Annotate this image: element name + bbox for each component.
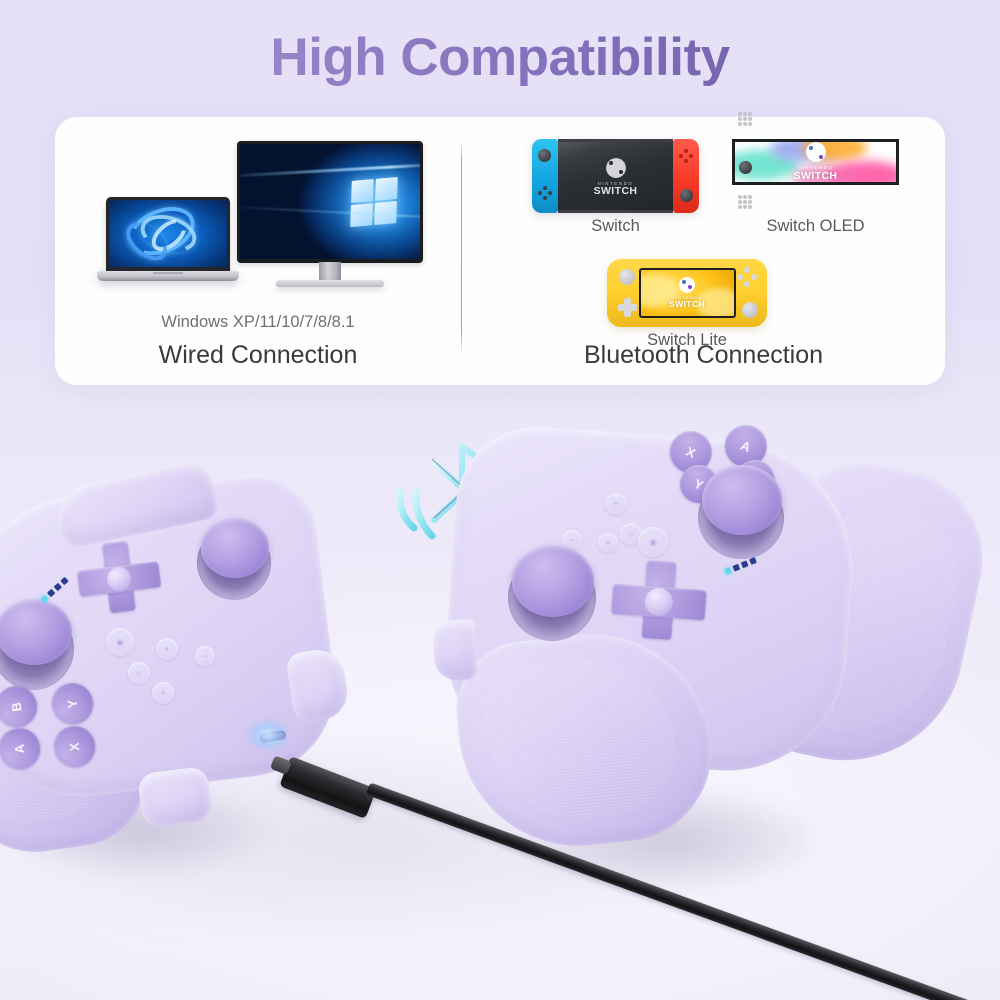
- left-controller-dpad[interactable]: [74, 537, 164, 618]
- wired-connection-heading: Wired Connection: [55, 341, 461, 370]
- lite-dpad: [618, 298, 637, 317]
- joycon-right-stick: [680, 189, 693, 202]
- right-joycon-neon-red: [673, 139, 699, 213]
- capture-button[interactable]: ◉: [638, 527, 668, 557]
- left-bumper-button[interactable]: [433, 619, 477, 680]
- switch-screen: NINTENDO SWITCH: [558, 139, 673, 213]
- left-joycon-neon-blue: [532, 139, 558, 213]
- desktop-monitor-icon: [237, 141, 423, 263]
- right-analog-stick[interactable]: [201, 518, 269, 578]
- minus-button[interactable]: −: [195, 646, 215, 666]
- joycon-left-stick: [538, 149, 551, 162]
- switch-lite-body: NINTENDO SWITCH: [607, 259, 767, 327]
- switch-oled-screen: NINTENDO SWITCH: [732, 139, 899, 185]
- right-bumper-button[interactable]: [285, 646, 351, 724]
- nintendo-switch-logo-icon: [806, 142, 826, 162]
- right-analog-stick[interactable]: [702, 465, 782, 535]
- right-controller-dpad[interactable]: [609, 558, 708, 644]
- left-controller[interactable]: ◉ + − ○ + B Y A X: [0, 470, 390, 890]
- windows-versions-label: Windows XP/11/10/7/8/8.1: [55, 313, 461, 332]
- switch-body: NINTENDO SWITCH: [532, 139, 699, 213]
- monitor-stand-base: [276, 280, 384, 287]
- screen-brand-switch: SWITCH: [794, 171, 838, 183]
- switch-lite-screen: NINTENDO SWITCH: [639, 268, 736, 318]
- windows-10-logo-icon: [350, 176, 398, 226]
- monitor-screen-windows10: [240, 144, 420, 259]
- screenshot-button[interactable]: +: [598, 533, 618, 553]
- home-button[interactable]: ○: [128, 662, 150, 684]
- screen-brand-switch: SWITCH: [594, 186, 638, 198]
- capture-button[interactable]: ◉: [106, 628, 134, 656]
- lite-right-stick: [742, 302, 758, 318]
- plus-button[interactable]: +: [156, 638, 178, 660]
- wired-device-group: [55, 125, 461, 315]
- page-title: High Compatibility: [0, 27, 1000, 88]
- console-switch: NINTENDO SWITCH Switch: [532, 139, 699, 213]
- laptop-base: [97, 271, 239, 281]
- screen-brand-switch: SWITCH: [669, 300, 705, 309]
- charging-glow: [245, 718, 291, 752]
- bluetooth-connection-heading: Bluetooth Connection: [462, 341, 945, 370]
- nintendo-switch-logo-icon: [606, 158, 626, 178]
- monitor-stand-neck: [319, 262, 341, 282]
- nintendo-switch-logo-icon: [679, 277, 695, 293]
- joycon-left-dpad-dots: [737, 111, 752, 126]
- switch-oled-body: NINTENDO SWITCH: [732, 139, 899, 185]
- grip-texture: [478, 650, 681, 827]
- switch-console-group: NINTENDO SWITCH Switch: [462, 139, 945, 245]
- joycon-right-face-buttons: [737, 194, 753, 210]
- joycon-left-dpad-dots: [537, 185, 552, 200]
- console-switch-oled: NINTENDO SWITCH Switch OLED: [732, 139, 899, 213]
- laptop-icon: [97, 197, 239, 297]
- console-label-switch-oled: Switch OLED: [766, 217, 864, 236]
- laptop-screen-windows11: [109, 200, 227, 267]
- joycon-right-stick: [739, 161, 752, 174]
- product-feature-image: High Compatibility: [0, 0, 1000, 1000]
- screenshot-button[interactable]: +: [152, 682, 174, 704]
- left-analog-stick[interactable]: [512, 545, 594, 617]
- bluetooth-connection-pane: NINTENDO SWITCH Switch: [462, 117, 945, 385]
- monitor-bezel: [237, 141, 423, 263]
- lite-face-buttons: [737, 267, 757, 287]
- wired-connection-pane: Windows XP/11/10/7/8/8.1 Wired Connectio…: [55, 117, 461, 385]
- compatibility-card: Windows XP/11/10/7/8/8.1 Wired Connectio…: [55, 117, 945, 385]
- plus-button[interactable]: +: [605, 493, 627, 515]
- lite-left-stick: [619, 269, 635, 285]
- laptop-lid: [106, 197, 230, 273]
- right-controller[interactable]: X A Y B + ○ − + ◉: [440, 405, 960, 905]
- console-switch-lite: NINTENDO SWITCH Switch Lite: [607, 259, 767, 327]
- left-trigger-button[interactable]: [137, 766, 213, 828]
- joycon-right-face-buttons: [678, 148, 694, 164]
- console-label-switch: Switch: [591, 217, 640, 236]
- windows-11-bloom-wallpaper-icon: [109, 200, 227, 267]
